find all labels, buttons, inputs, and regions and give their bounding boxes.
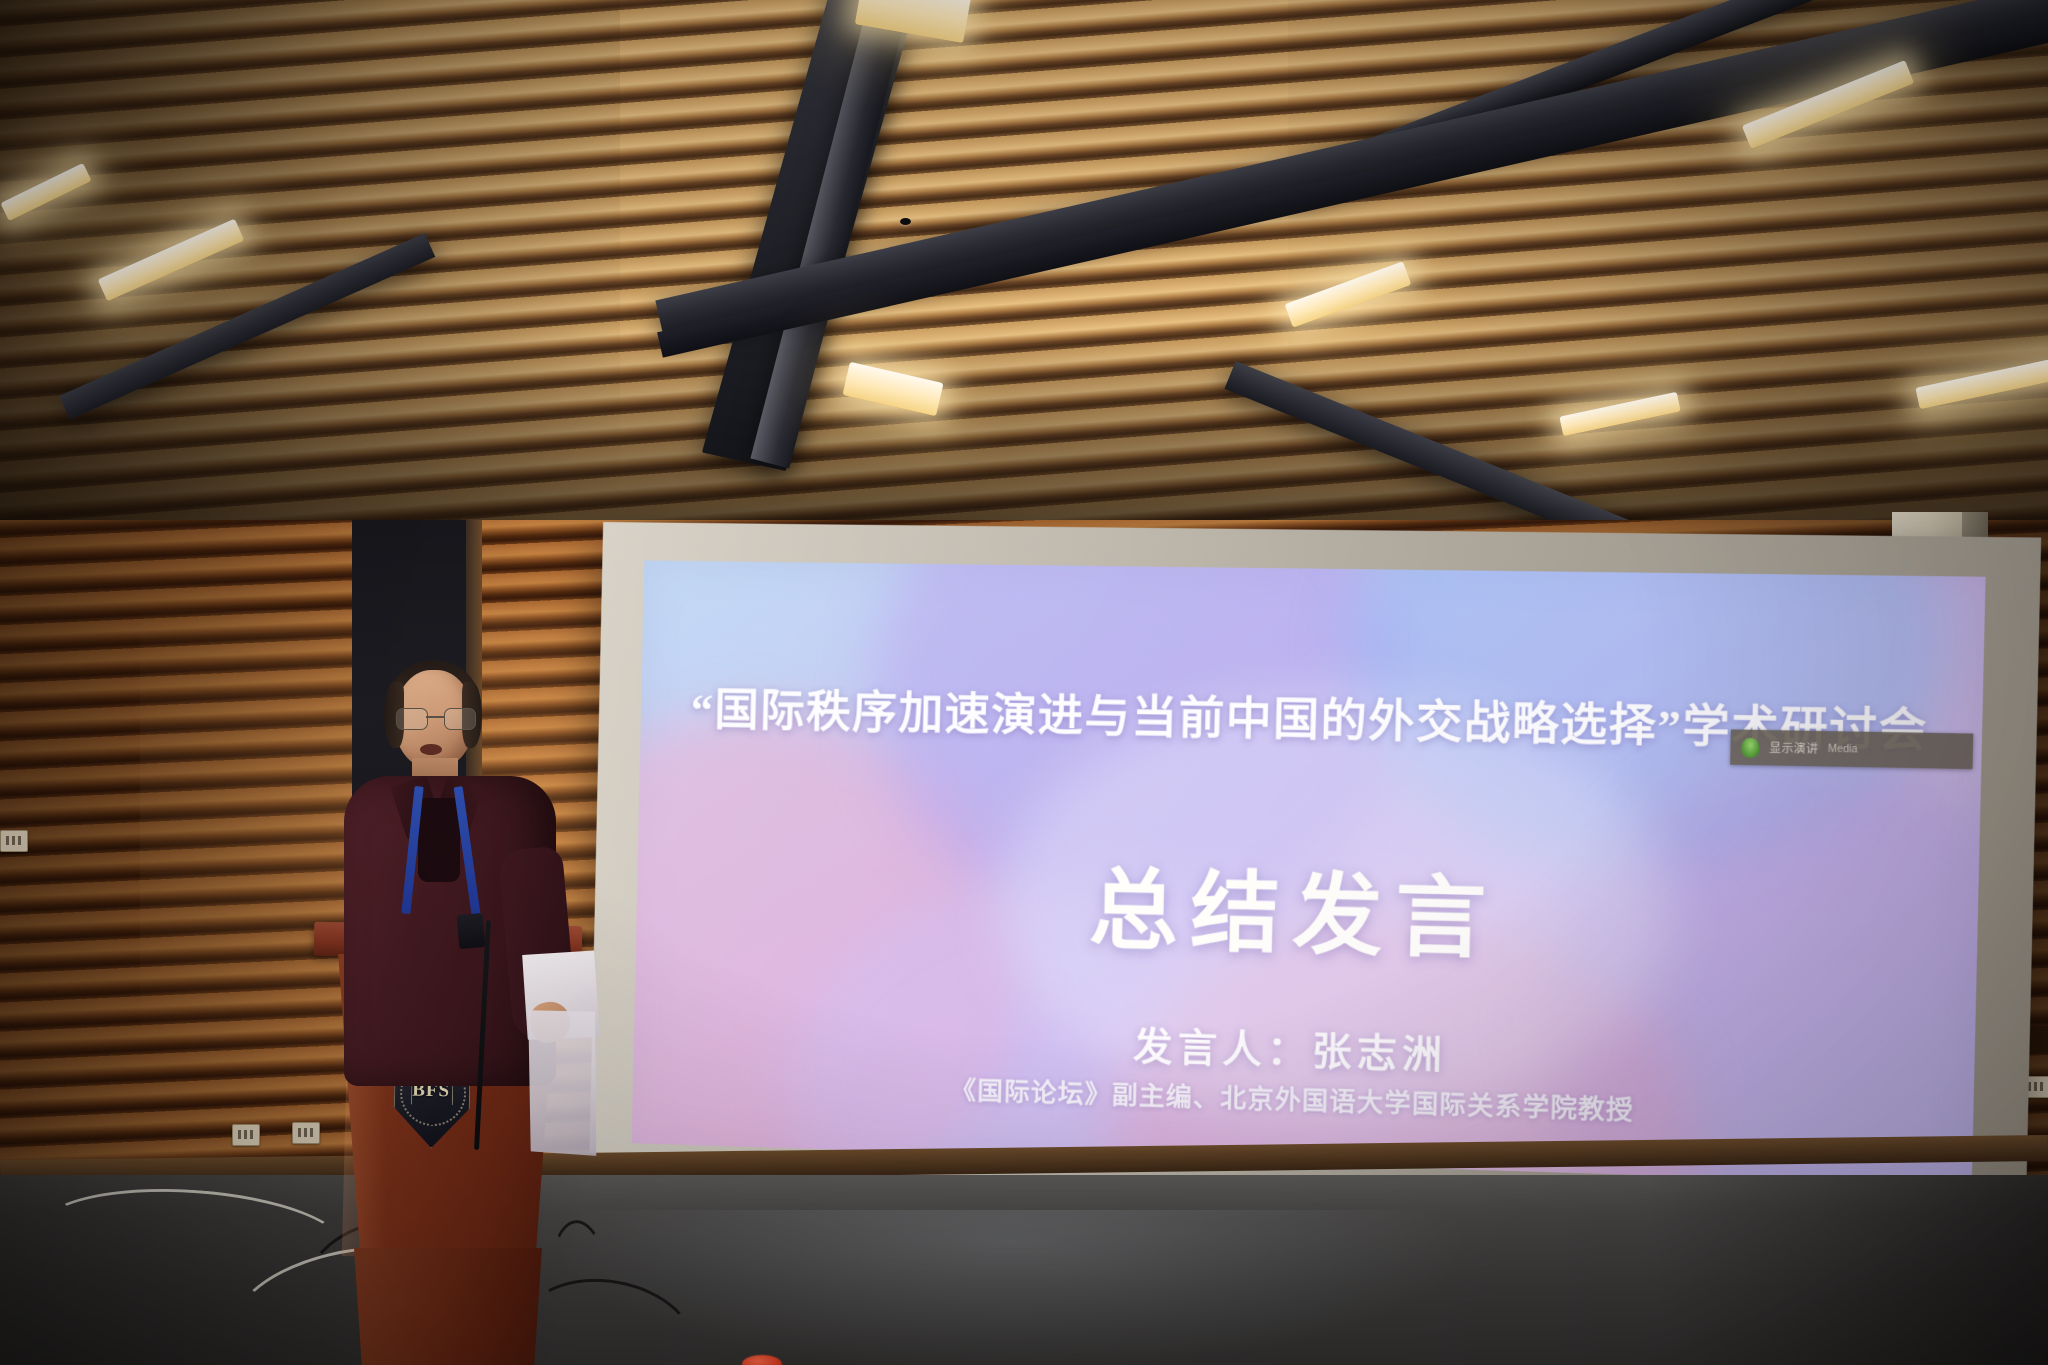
presenter-toolbar-label: 显示演讲 xyxy=(1769,739,1819,757)
slide-main-heading: 总结发言 xyxy=(636,829,1980,988)
speaker-glasses-lens-left xyxy=(396,708,428,730)
wall-outlet-left-2[interactable] xyxy=(232,1124,260,1146)
speaker-glasses-icon xyxy=(396,708,474,728)
conference-hall-scene: “国际秩序加速演进与当前中国的外交战略选择”学术研讨会 总结发言 发言人：张志洲… xyxy=(0,0,2048,1365)
speaker-shirt-front xyxy=(418,798,460,882)
speaker-badge xyxy=(457,913,486,949)
slide-text-content: “国际秩序加速演进与当前中国的外交战略选择”学术研讨会 总结发言 发言人：张志洲… xyxy=(632,561,1986,1186)
ceiling-sensor-icon xyxy=(900,218,911,225)
speaker-papers-lower xyxy=(521,1006,605,1161)
speaker-glasses-lens-right xyxy=(444,708,476,730)
presenter-toolbar-sublabel: Media xyxy=(1828,743,1858,755)
presenter-toolbar[interactable]: 显示演讲 Media xyxy=(1730,729,1973,769)
wall-outlet-far-left[interactable] xyxy=(0,830,28,852)
projection-screen[interactable]: “国际秩序加速演进与当前中国的外交战略选择”学术研讨会 总结发言 发言人：张志洲… xyxy=(589,522,2041,1229)
podium-base xyxy=(348,1248,548,1365)
green-presenter-icon[interactable] xyxy=(1741,737,1760,757)
presentation-slide[interactable]: “国际秩序加速演进与当前中国的外交战略选择”学术研讨会 总结发言 发言人：张志洲… xyxy=(632,561,1986,1186)
speaker-glasses-bridge xyxy=(426,716,444,718)
speaker-person xyxy=(340,670,570,1190)
speaker-mouth xyxy=(420,744,442,755)
floor-shadow-right xyxy=(1560,1175,2048,1365)
